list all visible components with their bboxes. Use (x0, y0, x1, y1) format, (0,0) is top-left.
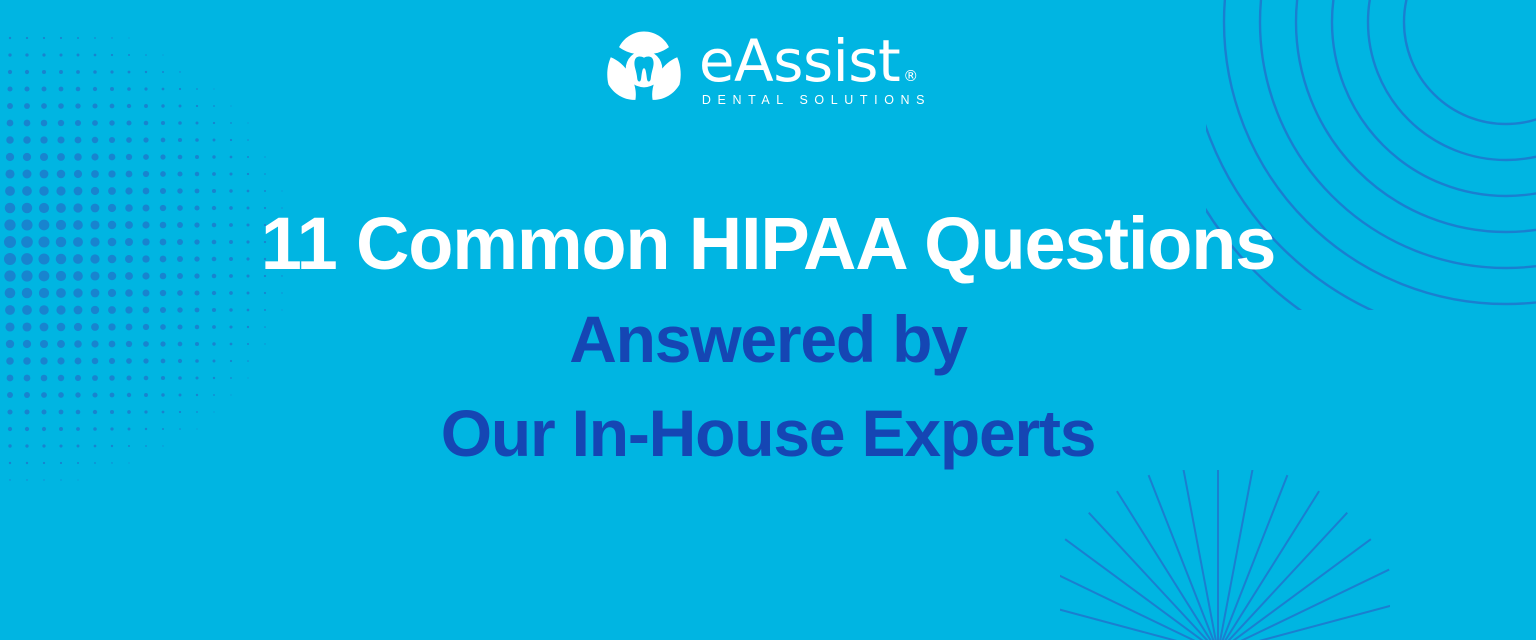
sunburst-rays-decoration (1060, 470, 1390, 640)
headline-line-secondary: Answered by (0, 292, 1536, 386)
registered-trademark-icon: ® (903, 67, 918, 85)
headline-line-primary: 11 Common HIPAA Questions (0, 196, 1536, 292)
headline-block: 11 Common HIPAA Questions Answered by Ou… (0, 196, 1536, 480)
brand-wordmark-group: eAssist ® DENTAL SOLUTIONS (699, 33, 931, 108)
brand-logo-block: eAssist ® DENTAL SOLUTIONS (0, 26, 1536, 112)
headline-line-tertiary: Our In-House Experts (0, 386, 1536, 480)
brand-wordmark-row: eAssist ® (699, 33, 918, 90)
eassist-trefoil-tooth-logo-icon (605, 30, 683, 108)
hipaa-promo-banner: eAssist ® DENTAL SOLUTIONS 11 Common HIP… (0, 0, 1536, 640)
brand-tagline: DENTAL SOLUTIONS (702, 93, 931, 107)
brand-wordmark: eAssist (699, 33, 900, 90)
